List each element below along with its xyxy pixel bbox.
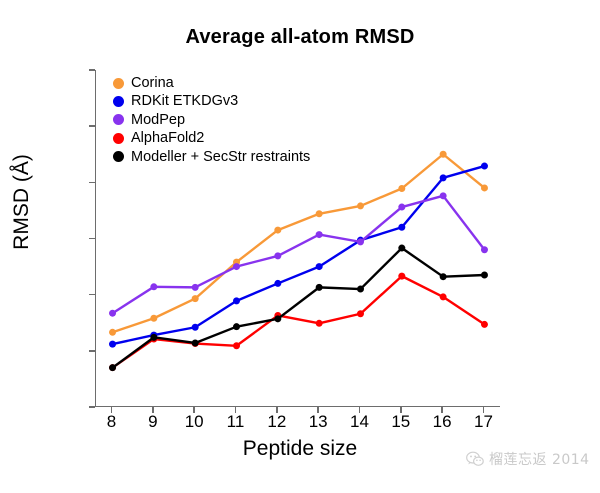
data-point bbox=[150, 283, 157, 290]
data-point bbox=[440, 293, 447, 300]
x-tick-label: 9 bbox=[133, 412, 173, 432]
series-line bbox=[113, 166, 485, 344]
chart-legend: CorinaRDKit ETKDGv3ModPepAlphaFold2Model… bbox=[113, 74, 310, 166]
data-point bbox=[233, 323, 240, 330]
data-point bbox=[481, 184, 488, 191]
chart-title: Average all-atom RMSD bbox=[0, 26, 600, 49]
x-tick-label: 17 bbox=[463, 412, 503, 432]
y-tick-mark bbox=[89, 406, 95, 408]
y-tick-mark bbox=[89, 125, 95, 127]
y-tick-mark bbox=[89, 182, 95, 184]
legend-marker-icon bbox=[113, 114, 124, 125]
legend-item[interactable]: Modeller + SecStr restraints bbox=[113, 148, 310, 166]
x-tick-mark bbox=[276, 407, 278, 413]
data-point bbox=[440, 273, 447, 280]
data-point bbox=[192, 295, 199, 302]
legend-marker-icon bbox=[113, 151, 124, 162]
data-point bbox=[274, 252, 281, 259]
y-axis-label: RMSD (Å) bbox=[10, 72, 34, 332]
data-point bbox=[192, 324, 199, 331]
legend-marker-icon bbox=[113, 78, 124, 89]
x-tick-label: 15 bbox=[381, 412, 421, 432]
data-point bbox=[357, 310, 364, 317]
data-point bbox=[481, 321, 488, 328]
watermark: 榴莲忘返 2014 bbox=[466, 449, 590, 469]
data-point bbox=[233, 263, 240, 270]
data-point bbox=[109, 364, 116, 371]
data-point bbox=[481, 272, 488, 279]
data-point bbox=[274, 280, 281, 287]
legend-label: ModPep bbox=[131, 113, 185, 128]
data-point bbox=[150, 315, 157, 322]
data-point bbox=[109, 329, 116, 336]
wechat-icon bbox=[466, 451, 484, 467]
data-point bbox=[233, 342, 240, 349]
data-point bbox=[316, 320, 323, 327]
x-tick-label: 11 bbox=[216, 412, 256, 432]
legend-label: AlphaFold2 bbox=[131, 131, 204, 146]
series-line bbox=[113, 196, 485, 313]
x-tick-label: 14 bbox=[339, 412, 379, 432]
data-point bbox=[233, 297, 240, 304]
data-point bbox=[109, 310, 116, 317]
x-tick-mark bbox=[483, 407, 485, 413]
data-point bbox=[357, 202, 364, 209]
x-tick-mark bbox=[317, 407, 319, 413]
data-point bbox=[274, 227, 281, 234]
series-line bbox=[113, 276, 485, 368]
x-tick-mark bbox=[235, 407, 237, 413]
data-point bbox=[357, 286, 364, 293]
x-tick-label: 10 bbox=[174, 412, 214, 432]
x-tick-label: 13 bbox=[298, 412, 338, 432]
data-point bbox=[440, 151, 447, 158]
watermark-text: 榴莲忘返 2014 bbox=[489, 449, 590, 469]
data-point bbox=[316, 231, 323, 238]
data-point bbox=[192, 339, 199, 346]
data-point bbox=[316, 263, 323, 270]
series-line bbox=[113, 154, 485, 332]
data-point bbox=[481, 246, 488, 253]
data-point bbox=[440, 192, 447, 199]
y-tick-mark bbox=[89, 294, 95, 296]
x-tick-label: 12 bbox=[257, 412, 297, 432]
legend-marker-icon bbox=[113, 133, 124, 144]
x-tick-label: 16 bbox=[422, 412, 462, 432]
legend-item[interactable]: Corina bbox=[113, 74, 310, 92]
legend-item[interactable]: RDKit ETKDGv3 bbox=[113, 92, 310, 110]
x-tick-mark bbox=[359, 407, 361, 413]
data-point bbox=[398, 185, 405, 192]
legend-label: RDKit ETKDGv3 bbox=[131, 94, 238, 109]
data-point bbox=[398, 245, 405, 252]
data-point bbox=[274, 315, 281, 322]
data-point bbox=[398, 204, 405, 211]
legend-label: Modeller + SecStr restraints bbox=[131, 150, 310, 165]
x-tick-label: 8 bbox=[92, 412, 132, 432]
x-tick-mark bbox=[152, 407, 154, 413]
data-point bbox=[109, 341, 116, 348]
legend-item[interactable]: ModPep bbox=[113, 111, 310, 129]
y-tick-mark bbox=[89, 69, 95, 71]
data-point bbox=[398, 224, 405, 231]
x-tick-mark bbox=[441, 407, 443, 413]
x-tick-mark bbox=[111, 407, 113, 413]
data-point bbox=[357, 238, 364, 245]
legend-marker-icon bbox=[113, 96, 124, 107]
chart-figure: Average all-atom RMSD RMSD (Å) Peptide s… bbox=[0, 0, 600, 493]
data-point bbox=[481, 163, 488, 170]
data-point bbox=[440, 174, 447, 181]
data-point bbox=[398, 273, 405, 280]
x-tick-mark bbox=[400, 407, 402, 413]
y-tick-mark bbox=[89, 350, 95, 352]
y-tick-mark bbox=[89, 238, 95, 240]
data-point bbox=[316, 210, 323, 217]
data-point bbox=[150, 334, 157, 341]
data-point bbox=[192, 284, 199, 291]
legend-label: Corina bbox=[131, 76, 174, 91]
x-tick-mark bbox=[193, 407, 195, 413]
series-line bbox=[113, 248, 485, 368]
legend-item[interactable]: AlphaFold2 bbox=[113, 129, 310, 147]
data-point bbox=[316, 284, 323, 291]
